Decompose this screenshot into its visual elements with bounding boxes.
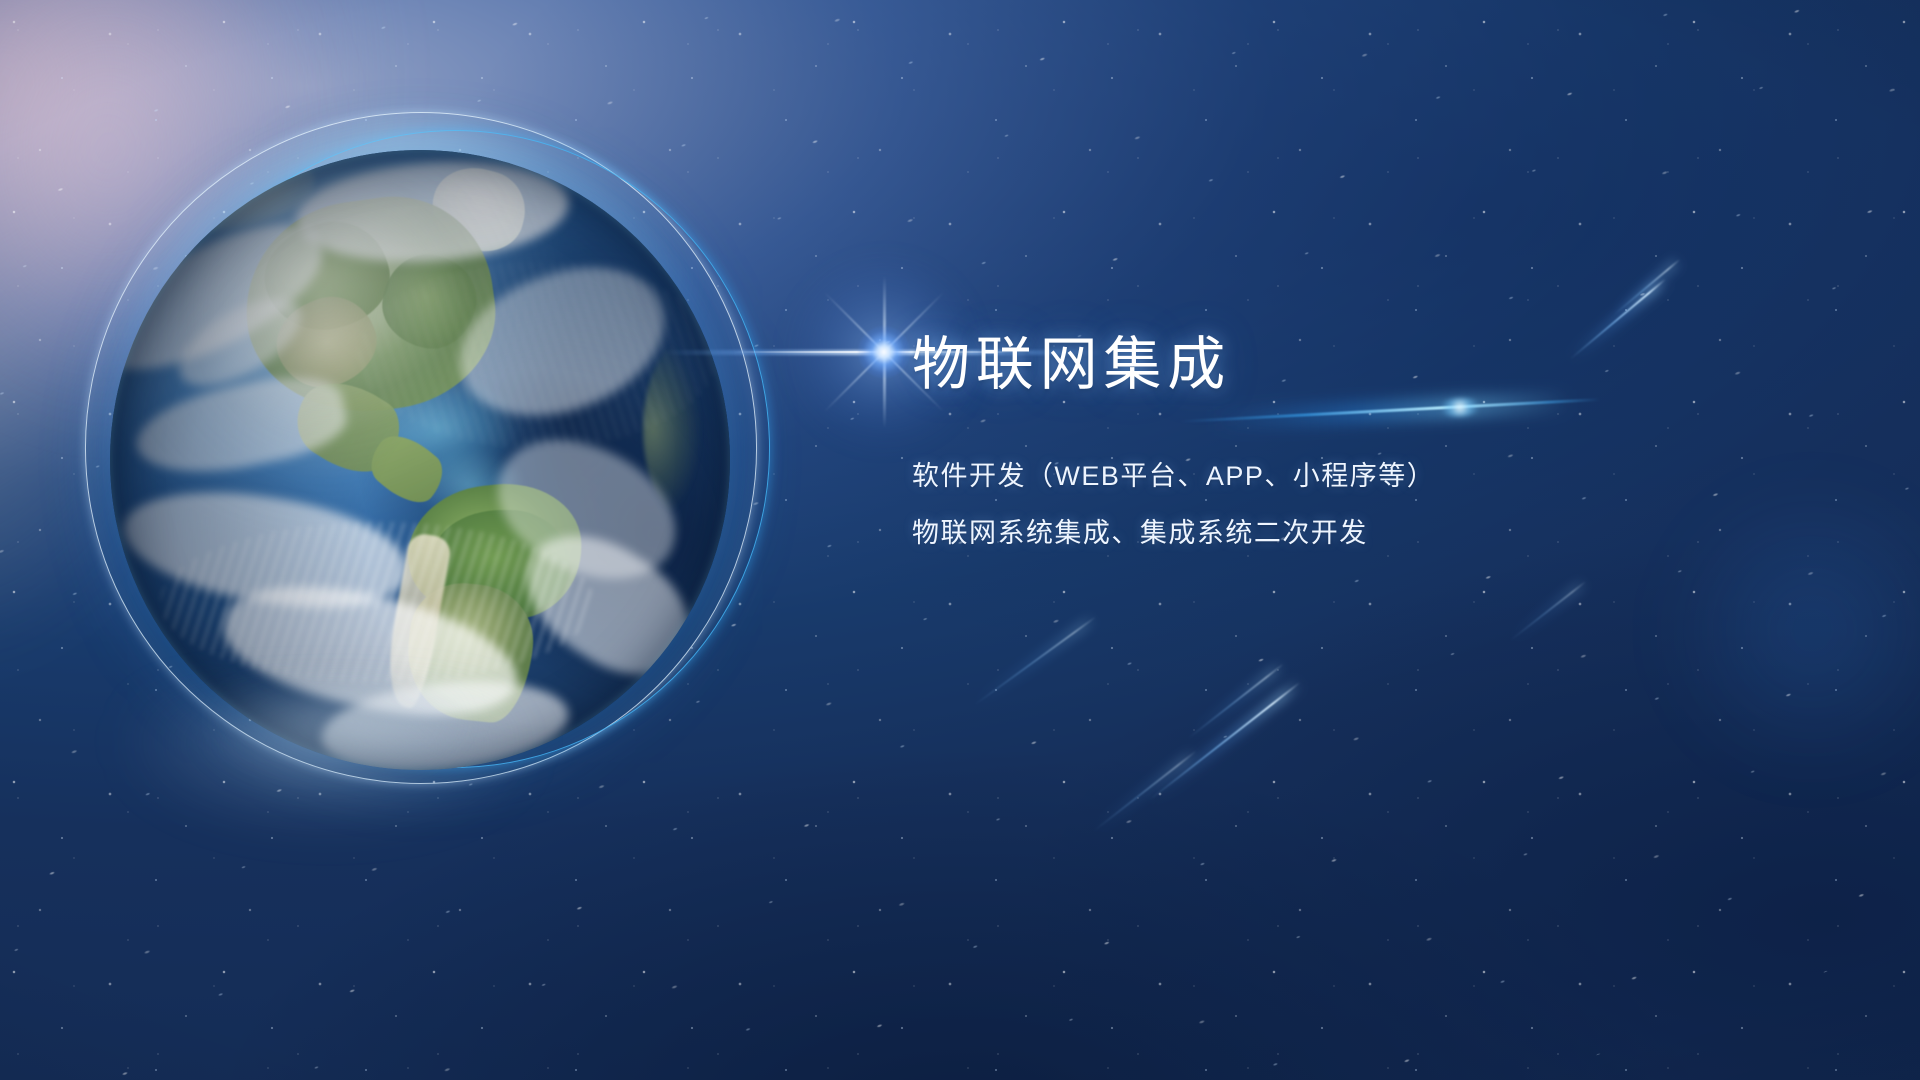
earth-globe: [110, 150, 730, 770]
hero-title: 物联网集成: [912, 334, 1672, 397]
hero-subtitle-1: 软件开发（WEB平台、APP、小程序等）: [912, 463, 1672, 490]
hero-subtitle-2: 物联网系统集成、集成系统二次开发: [912, 520, 1672, 547]
globe-reflection-core: [150, 690, 530, 840]
globe-sphere: [110, 150, 730, 770]
hero-copy: 物联网集成 软件开发（WEB平台、APP、小程序等） 物联网系统集成、集成系统二…: [912, 334, 1672, 547]
hero-banner: 物联网集成 软件开发（WEB平台、APP、小程序等） 物联网系统集成、集成系统二…: [0, 0, 1920, 1080]
sphere-limb-darkening: [110, 150, 730, 770]
